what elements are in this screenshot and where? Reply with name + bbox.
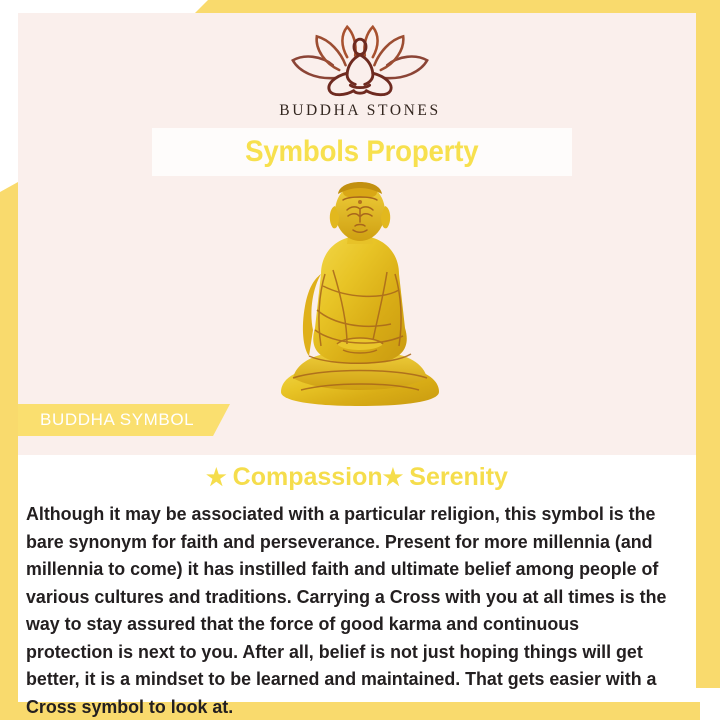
decor-band-left bbox=[0, 182, 18, 702]
attribute-serenity: Serenity bbox=[409, 463, 508, 491]
seated-golden-buddha-illustration bbox=[263, 178, 457, 410]
page-title: Symbols Property bbox=[245, 135, 478, 169]
lotus-meditation-icon bbox=[280, 22, 440, 100]
star-icon: ★ bbox=[206, 464, 227, 490]
attributes-headline: ★Compassion★Serenity bbox=[18, 463, 696, 492]
buddha-symbol-ribbon: BUDDHA SYMBOL bbox=[18, 404, 230, 436]
star-icon: ★ bbox=[383, 464, 404, 490]
title-banner: Symbols Property bbox=[152, 128, 572, 176]
poster-root: BUDDHA STONES Symbols Property bbox=[0, 0, 720, 720]
attribute-compassion: Compassion bbox=[233, 463, 383, 491]
ribbon-label: BUDDHA SYMBOL bbox=[18, 410, 194, 430]
brand-name: BUDDHA STONES bbox=[0, 102, 720, 120]
decor-band-top bbox=[195, 0, 720, 13]
description-paragraph: Although it may be associated with a par… bbox=[26, 500, 670, 720]
brand-logo: BUDDHA STONES bbox=[0, 22, 720, 120]
